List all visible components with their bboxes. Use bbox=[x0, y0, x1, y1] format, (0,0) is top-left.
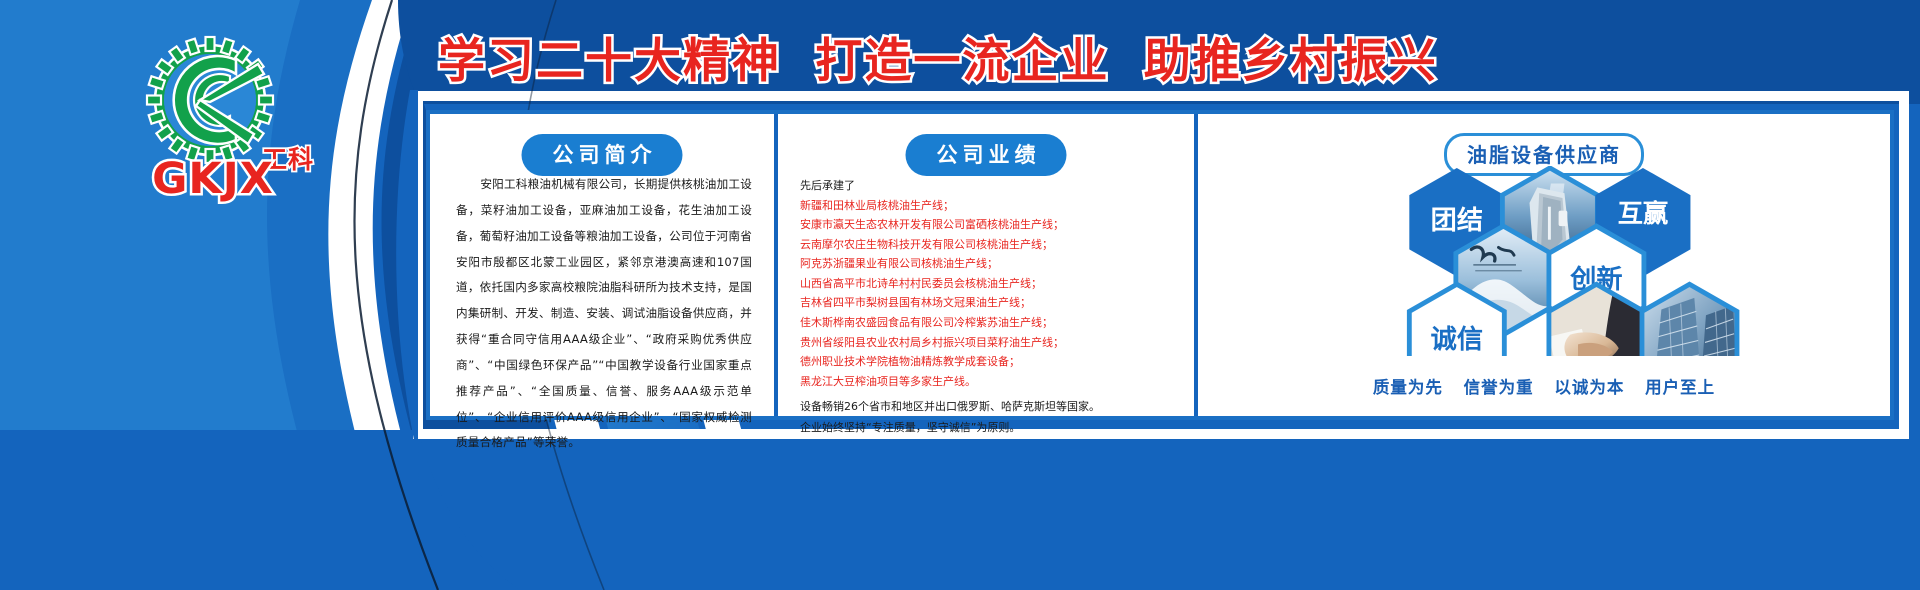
performance-project-4: 阿克苏浙疆果业有限公司核桃油生产线； bbox=[800, 254, 1180, 274]
svg-text:诚信: 诚信 bbox=[1431, 325, 1483, 355]
slogan-part-2: 信誉为重 bbox=[1464, 378, 1534, 397]
performance-project-2: 安康市瀛天生态农林开发有限公司富硒核桃油生产线； bbox=[800, 215, 1180, 235]
performance-footer-line-2: 企业始终坚持“专注质量，坚守诚信”为原则。 bbox=[800, 418, 1180, 438]
supplier-slogan: 质量为先 信誉为重 以诚为本 用户至上 bbox=[1198, 374, 1890, 398]
slogan-part-1: 质量为先 bbox=[1373, 378, 1443, 397]
headline-segment-2: 打造一流企业 bbox=[815, 34, 1109, 89]
performance-project-9: 德州职业技术学院植物油精炼教学成套设备； bbox=[800, 352, 1180, 372]
performance-project-7: 佳木斯桦南农盛园食品有限公司冷榨紫苏油生产线； bbox=[800, 313, 1180, 333]
svg-text:互赢: 互赢 bbox=[1618, 199, 1668, 228]
content-panels: 公司简介 安阳工科粮油机械有限公司，长期提供核桃油加工设备，菜籽油加工设备，亚麻… bbox=[426, 110, 1894, 420]
performance-project-10: 黑龙江大豆榨油项目等多家生产线。 bbox=[800, 372, 1180, 392]
gear-logo-icon bbox=[140, 30, 280, 170]
performance-project-8: 贵州省绥阳县农业农村局乡村振兴项目菜籽油生产线； bbox=[800, 333, 1180, 353]
panel-intro-title: 公司简介 bbox=[522, 134, 683, 176]
slogan-part-3: 以诚为本 bbox=[1554, 378, 1624, 397]
performance-project-5: 山西省高平市北诗牟村村民委员会核桃油生产线； bbox=[800, 274, 1180, 294]
panel-intro-body: 安阳工科粮油机械有限公司，长期提供核桃油加工设备，菜籽油加工设备，亚麻油加工设备… bbox=[456, 172, 752, 456]
value-hexagon-honeycomb: 团结 bbox=[1198, 166, 1867, 356]
svg-text:团结: 团结 bbox=[1431, 206, 1483, 236]
panel-performance-title: 公司业绩 bbox=[906, 134, 1067, 176]
slogan-part-4: 用户至上 bbox=[1645, 378, 1715, 397]
panel-company-intro: 公司简介 安阳工科粮油机械有限公司，长期提供核桃油加工设备，菜籽油加工设备，亚麻… bbox=[430, 114, 774, 416]
headline-segment-3: 助推乡村振兴 bbox=[1144, 34, 1438, 89]
panel-supplier: 油脂设备供应商 bbox=[1198, 114, 1890, 416]
performance-footer: 设备畅销26个省市和地区并出口俄罗斯、哈萨克斯坦等国家。 企业始终坚持“专注质量… bbox=[800, 397, 1180, 438]
panel-performance-body: 先后承建了 新疆和田林业局核桃油生产线； 安康市瀛天生态农林开发有限公司富硒核桃… bbox=[800, 176, 1180, 438]
performance-project-3: 云南摩尔农庄生物科技开发有限公司核桃油生产线； bbox=[800, 235, 1180, 255]
performance-footer-line-1: 设备畅销26个省市和地区并出口俄罗斯、哈萨克斯坦等国家。 bbox=[800, 397, 1180, 417]
page-title: 学习二十大精神 打造一流企业 助推乡村振兴 bbox=[430, 22, 1440, 91]
performance-lead: 先后承建了 bbox=[800, 176, 1180, 196]
panel-company-performance: 公司业绩 先后承建了 新疆和田林业局核桃油生产线； 安康市瀛天生态农林开发有限公… bbox=[778, 114, 1194, 416]
logo-name-en: GKJX bbox=[118, 158, 308, 201]
company-logo: 工科 GKJX bbox=[118, 30, 308, 205]
hex-photo-buildings bbox=[1642, 284, 1737, 356]
performance-project-6: 吉林省四平市梨树县国有林场文冠果油生产线； bbox=[800, 293, 1180, 313]
headline-segment-1: 学习二十大精神 bbox=[438, 34, 781, 89]
performance-project-1: 新疆和田林业局核桃油生产线； bbox=[800, 196, 1180, 216]
poster-canvas: 工科 GKJX 学习二十大精神 打造一流企业 助推乡村振兴 公司简介 安阳工科粮… bbox=[0, 0, 1920, 590]
